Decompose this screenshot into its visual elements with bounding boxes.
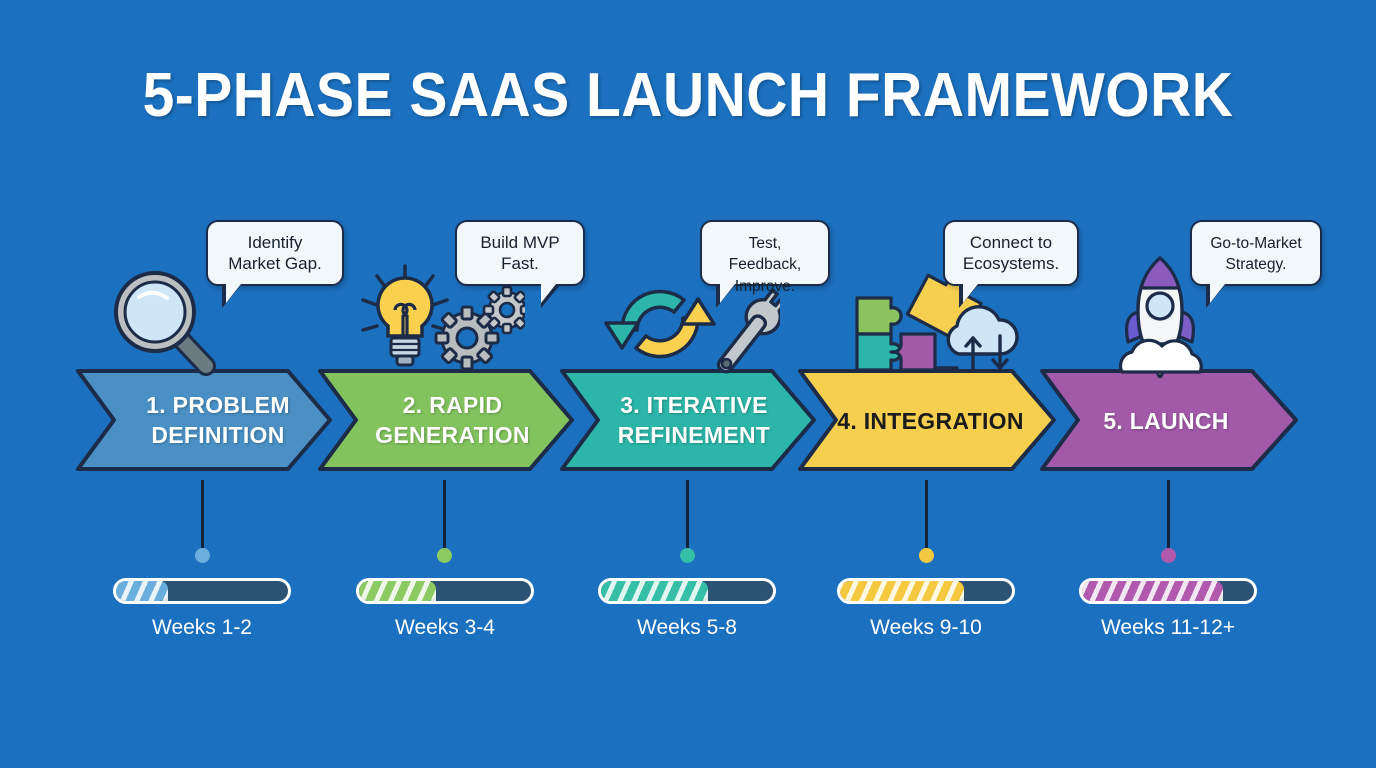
- bubble-tail-fill: [1210, 284, 1225, 303]
- phase-callout-4: Connect to Ecosystems.: [943, 220, 1079, 286]
- bubble-tail-fill: [541, 284, 556, 303]
- bubble-tail-fill: [226, 284, 241, 303]
- phase-callout-text-5: Go-to-Market Strategy.: [1210, 235, 1301, 273]
- chevron-phase-4: [800, 371, 1054, 469]
- phase-callout-text-4: Connect to Ecosystems.: [963, 233, 1059, 273]
- progress-bar-5: [1079, 578, 1257, 604]
- timeline-label-1: Weeks 1-2: [112, 616, 292, 640]
- phase-callout-2: Build MVP Fast.: [455, 220, 585, 286]
- page-title: 5-PHASE SAAS LAUNCH FRAMEWORK: [55, 60, 1321, 131]
- progress-fill-1: [116, 581, 168, 601]
- phase-callout-text-2: Build MVP Fast.: [480, 233, 559, 273]
- connector-line-4: [925, 480, 928, 552]
- bubble-tail-fill: [963, 284, 978, 303]
- connector-dot-5: [1161, 548, 1176, 563]
- progress-stripes: [601, 581, 708, 601]
- connector-dot-3: [680, 548, 695, 563]
- progress-bar-2: [356, 578, 534, 604]
- chevron-phase-1: [78, 371, 330, 469]
- progress-fill-5: [1082, 581, 1223, 601]
- phase-callout-text-1: Identify Market Gap.: [228, 233, 322, 273]
- phase-callout-3: Test, Feedback, Improve.: [700, 220, 830, 286]
- progress-stripes: [359, 581, 436, 601]
- timeline-label-5: Weeks 11-12+: [1078, 616, 1258, 640]
- progress-fill-3: [601, 581, 708, 601]
- connector-line-2: [443, 480, 446, 552]
- progress-fill-2: [359, 581, 436, 601]
- bubble-tail-fill: [720, 284, 735, 303]
- connector-dot-1: [195, 548, 210, 563]
- progress-bar-1: [113, 578, 291, 604]
- progress-fill-4: [840, 581, 964, 601]
- progress-bar-4: [837, 578, 1015, 604]
- phase-callout-1: Identify Market Gap.: [206, 220, 344, 286]
- infographic-canvas: 5-PHASE SAAS LAUNCH FRAMEWORK Identify M…: [0, 0, 1376, 768]
- chevron-phase-2: [320, 371, 572, 469]
- chevron-phase-3: [562, 371, 814, 469]
- phase-chevron-band: [0, 368, 1376, 472]
- connector-dot-2: [437, 548, 452, 563]
- connector-line-3: [686, 480, 689, 552]
- progress-bar-3: [598, 578, 776, 604]
- connector-line-5: [1167, 480, 1170, 552]
- connector-dot-4: [919, 548, 934, 563]
- connector-line-1: [201, 480, 204, 552]
- timeline-label-4: Weeks 9-10: [836, 616, 1016, 640]
- chevron-phase-5: [1042, 371, 1296, 469]
- timeline-label-3: Weeks 5-8: [597, 616, 777, 640]
- phase-callout-text-3: Test, Feedback, Improve.: [729, 235, 801, 295]
- progress-stripes: [840, 581, 964, 601]
- phase-callout-5: Go-to-Market Strategy.: [1190, 220, 1322, 286]
- progress-stripes: [116, 581, 168, 601]
- timeline-label-2: Weeks 3-4: [355, 616, 535, 640]
- progress-stripes: [1082, 581, 1223, 601]
